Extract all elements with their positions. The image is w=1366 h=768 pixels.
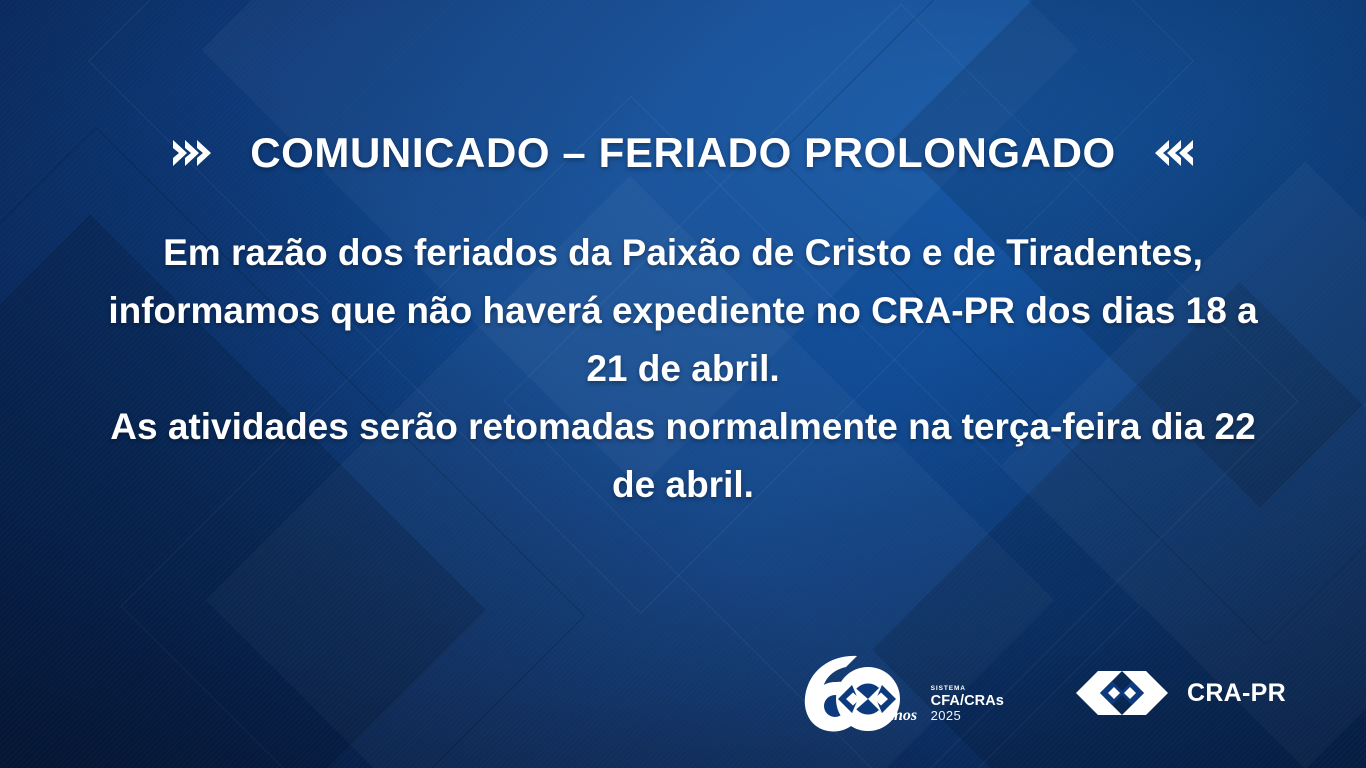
chevrons-left-icon <box>1152 138 1195 168</box>
headline-row: COMUNICADO – FERIADO PROLONGADO <box>0 101 1366 205</box>
cfa-cras-label: CFA/CRAs <box>931 693 1004 709</box>
announcement-paragraph-2: As atividades serão retomadas normalment… <box>88 398 1278 514</box>
footer-logos: anos SISTEMA CFA/CRAs 2025 <box>794 654 1286 732</box>
cra-hexagon-chevrons-icon <box>1074 665 1170 721</box>
sistema-year: 2025 <box>931 709 1004 724</box>
announcement-paragraph-1: Em razão dos feriados da Paixão de Crist… <box>88 224 1278 398</box>
cra-pr-label: CRA-PR <box>1187 679 1286 708</box>
anniversary-logo: anos SISTEMA CFA/CRAs 2025 <box>794 654 1004 732</box>
cra-pr-logo: CRA-PR <box>1074 665 1286 721</box>
sistema-label: SISTEMA <box>931 685 1004 692</box>
slide-canvas: COMUNICADO – FERIADO PROLONGADO Em razão… <box>0 0 1366 768</box>
anniversary-word: anos <box>886 707 917 724</box>
sixty-years-icon: anos <box>794 654 924 732</box>
chevrons-right-icon <box>171 138 214 168</box>
sistema-lockup: SISTEMA CFA/CRAs 2025 <box>931 685 1004 732</box>
announcement-body: Em razão dos feriados da Paixão de Crist… <box>88 224 1278 514</box>
slide-content: COMUNICADO – FERIADO PROLONGADO Em razão… <box>0 0 1366 768</box>
page-title: COMUNICADO – FERIADO PROLONGADO <box>250 129 1116 177</box>
